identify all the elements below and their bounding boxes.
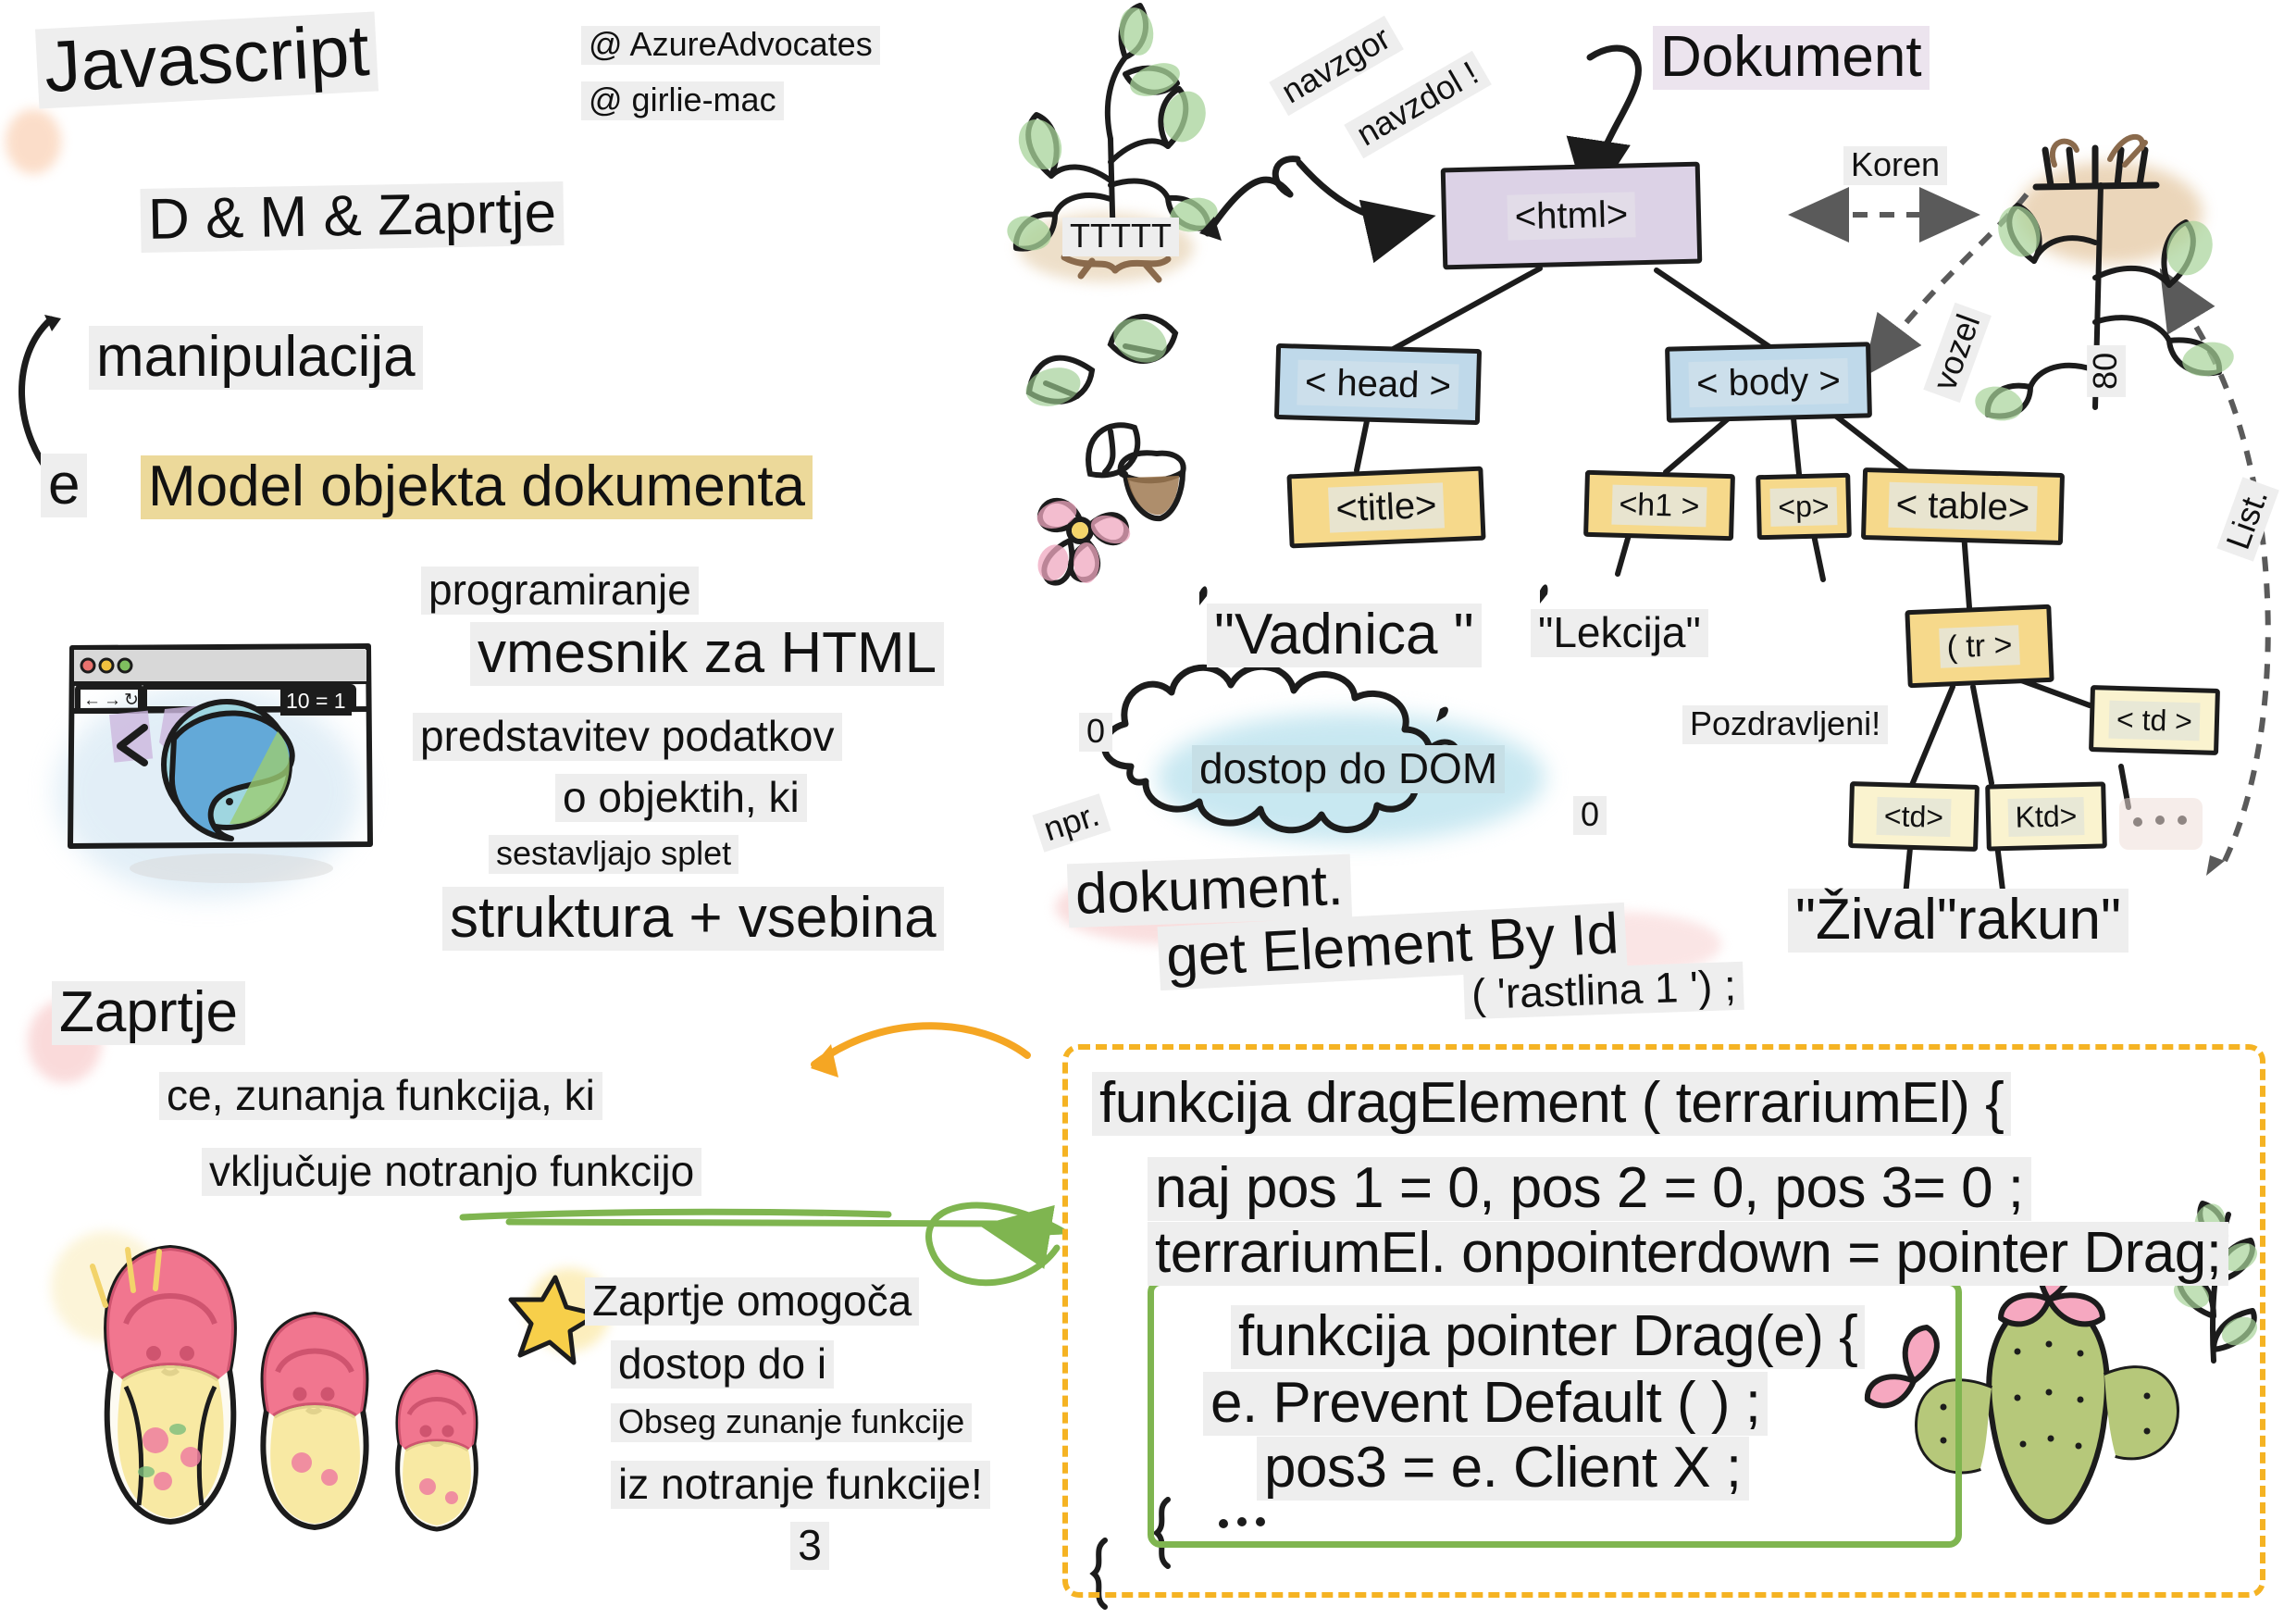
page-title-text: Javascript (35, 11, 379, 108)
dom-node-tr-label: ( tr > (1939, 625, 2021, 668)
cloud-label-dostop-do-dom: dostop do DOM (1192, 745, 1505, 793)
dom-node-td-3-label: < td > (2109, 700, 2201, 741)
closure-line-4: Obseg zunanje funkcije (611, 1403, 972, 1442)
code-inner-line-2: e. Prevent Default ( ) ; (1203, 1372, 1768, 1436)
closure-line-6: 3 (611, 1522, 1009, 1570)
sketchnote-canvas: ←→↻ Javascript (0, 0, 2296, 1619)
dom-node-table-label: < table> (1888, 481, 2038, 530)
code-outer-line-3: terrariumEl. onpointerdown = pointer Dra… (1148, 1222, 2228, 1286)
closure-line-5: iz notranje funkcije! (611, 1461, 990, 1509)
code-inner-line-1: funkcija pointer Drag(e) { (1231, 1305, 1865, 1369)
label-e: e (41, 454, 87, 517)
code-outer-line-2: naj pos 1 = 0, pos 2 = 0, pos 3= 0 ; (1148, 1157, 2031, 1221)
dom-node-html[interactable]: <html> (1441, 162, 1703, 270)
label-manipulacija: manipulacija (89, 326, 423, 390)
label-dokument: Dokument (1653, 26, 1930, 90)
dom-node-table[interactable]: < table> (1861, 467, 2065, 545)
bullet-oobjektih: o objektih, ki (555, 774, 807, 822)
handle-girliemac: @ girlie-mac (581, 81, 784, 120)
dom-text-pozdravljeni: Pozdravljeni! (1682, 705, 1888, 744)
zero-left: 0 (1079, 713, 1112, 752)
dom-node-h1[interactable]: <h1 > (1583, 470, 1735, 541)
wash-peach-left (6, 109, 61, 174)
browser-address-bar-text: 10 = 1 (280, 687, 352, 716)
label-npr: npr. (1032, 793, 1111, 852)
wash-cream-dolls (51, 1231, 162, 1342)
dom-node-td-1-label: <td> (1876, 796, 1951, 836)
dom-node-p[interactable]: <p> (1756, 473, 1852, 540)
code-dokument: dokument. (1067, 854, 1352, 928)
dom-text-lekcija: "Lekcija" (1531, 609, 1708, 657)
bullet-struktura: struktura + vsebina (442, 887, 944, 951)
bullet-vmesnik: vmesnik za HTML (470, 622, 944, 686)
closure-star-line: Zaprtje omogoča (585, 1277, 919, 1326)
label-dom-expansion: Model objekta dokumenta (141, 455, 813, 519)
svg-text:←: ← (83, 691, 101, 710)
dom-node-td-2-label: Ktd> (2007, 796, 2085, 836)
closure-line-2: vključuje notranjo funkcijo (202, 1148, 701, 1196)
dom-node-td-1[interactable]: <td> (1848, 781, 1980, 852)
dom-node-body-label: < body > (1689, 357, 1849, 406)
closure-heading: Zaprtje (52, 981, 245, 1045)
dom-node-title-label: <title> (1328, 482, 1446, 532)
handle-azureadvocates: @ AzureAdvocates (581, 26, 880, 65)
dom-node-head-label: < head > (1297, 359, 1458, 409)
dom-node-p-label: <p> (1770, 487, 1837, 527)
zero-right: 0 (1573, 796, 1607, 835)
label-vozel: vozel (1923, 303, 1991, 403)
page-title: Javascript (35, 11, 379, 108)
page-subtitle: D & M & Zaprtje (140, 181, 564, 253)
bullet-predstavitev: predstavitev podatkov (413, 713, 842, 761)
bullet-sestavljajo: sestavljajo splet (489, 835, 738, 874)
bullet-programiranje: programiranje (421, 567, 699, 615)
label-eighty: 80 (2087, 345, 2126, 397)
dom-text-zival-rakun: "Žival"rakun" (1788, 889, 2128, 953)
dom-node-h1-label: <h1 > (1611, 484, 1707, 527)
wash-blue-browser (56, 685, 361, 898)
dom-node-body[interactable]: < body > (1665, 342, 1872, 422)
code-rastlina-arg: ( 'rastlina 1 ') ; (1463, 962, 1744, 1020)
dom-node-td-3[interactable]: < td > (2089, 685, 2220, 755)
code-outer-line-1: funkcija dragElement ( terrariumEl) { (1092, 1072, 2011, 1136)
dom-text-vadnica: "Vadnica " (1207, 604, 1482, 667)
dom-node-tr[interactable]: ( tr > (1905, 604, 2054, 689)
dom-node-td-2[interactable]: Ktd> (1985, 781, 2107, 851)
label-koren: Koren (1843, 146, 1947, 185)
plant-label-ttttt: TTTTT (1062, 218, 1179, 256)
dom-node-head[interactable]: < head > (1274, 343, 1482, 425)
label-list: List. (2216, 477, 2278, 561)
code-inner-line-3: pos3 = e. Client X ; (1257, 1437, 1749, 1501)
dom-node-html-label: <html> (1507, 192, 1635, 240)
wash-tan-roots (2017, 162, 2203, 264)
closure-line-1: ce, zunanja funkcija, ki (159, 1072, 602, 1120)
closure-line-3: dostop do i (611, 1340, 834, 1389)
dom-node-title[interactable]: <title> (1286, 467, 1485, 549)
